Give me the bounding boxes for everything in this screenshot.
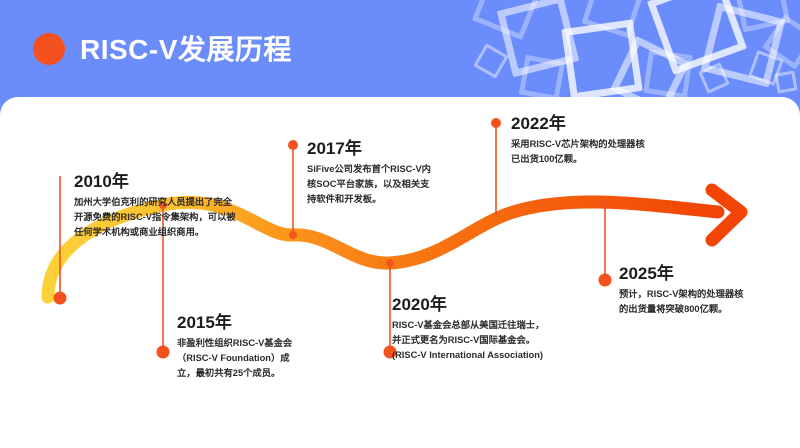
milestone-desc-line: 核SOC平台家族，以及相关支 — [307, 177, 431, 192]
milestone-desc-line: 立，最初共有25个成员。 — [177, 366, 292, 381]
milestone-year-2010: 2010年 — [74, 172, 236, 192]
timeline-node-2017[interactable] — [288, 140, 298, 150]
timeline-node-2015[interactable] — [157, 346, 170, 359]
milestone-desc-2015: 非盈利性组织RISC-V基金会 （RISC-V Foundation）成 立，最… — [177, 336, 292, 381]
milestone-desc-2020: RISC-V基金会总部从美国迁往瑞士， 并正式更名为RISC-V国际基金会。 (… — [392, 318, 544, 363]
milestone-year-2015: 2015年 — [177, 313, 292, 333]
slide-header: RISC-V发展历程 — [0, 0, 800, 97]
milestone-year-2022: 2022年 — [511, 114, 645, 134]
milestone-2025[interactable]: 2025年 预计，RISC-V架构的处理器核 的出货量将突破800亿颗。 — [619, 264, 743, 317]
milestone-desc-line: 已出货100亿颗。 — [511, 152, 645, 167]
milestone-desc-line: 非盈利性组织RISC-V基金会 — [177, 336, 292, 351]
circle-icon — [33, 33, 65, 65]
timeline-wave-node-2017 — [289, 231, 297, 239]
milestone-desc-line: 持软件和开发板。 — [307, 192, 431, 207]
milestone-year-2017: 2017年 — [307, 139, 431, 159]
milestone-desc-line: 任何学术机构或商业组织商用。 — [74, 225, 236, 240]
milestone-desc-2025: 预计，RISC-V架构的处理器核 的出货量将突破800亿颗。 — [619, 287, 743, 317]
milestone-desc-line: 加州大学伯克利的研究人员提出了完全 — [74, 195, 236, 210]
milestone-year-2025: 2025年 — [619, 264, 743, 284]
slide-canvas: RISC-V发展历程 — [0, 0, 800, 448]
page-title: RISC-V发展历程 — [80, 28, 292, 68]
timeline-node-2025[interactable] — [599, 274, 612, 287]
milestone-desc-line: 并正式更名为RISC-V国际基金会。 — [392, 333, 544, 348]
milestone-2022[interactable]: 2022年 采用RISC-V芯片架构的处理器核 已出货100亿颗。 — [511, 114, 645, 167]
milestone-desc-line: 开源免费的RISC-V指令集架构，可以被 — [74, 210, 236, 225]
milestone-desc-2022: 采用RISC-V芯片架构的处理器核 已出货100亿颗。 — [511, 137, 645, 167]
milestone-desc-line: 预计，RISC-V架构的处理器核 — [619, 287, 743, 302]
timeline-node-2022[interactable] — [491, 118, 501, 128]
milestone-2017[interactable]: 2017年 SiFive公司发布首个RISC-V内 核SOC平台家族，以及相关支… — [307, 139, 431, 208]
milestone-year-2020: 2020年 — [392, 295, 544, 315]
timeline-node-2010[interactable] — [54, 292, 67, 305]
milestone-desc-line: SiFive公司发布首个RISC-V内 — [307, 162, 431, 177]
milestone-desc-line: 采用RISC-V芯片架构的处理器核 — [511, 137, 645, 152]
milestone-desc-2017: SiFive公司发布首个RISC-V内 核SOC平台家族，以及相关支 持软件和开… — [307, 162, 431, 207]
milestone-2020[interactable]: 2020年 RISC-V基金会总部从美国迁往瑞士， 并正式更名为RISC-V国际… — [392, 295, 544, 364]
milestone-desc-line: （RISC-V Foundation）成 — [177, 351, 292, 366]
milestone-desc-line: 的出货量将突破800亿颗。 — [619, 302, 743, 317]
milestone-desc-2010: 加州大学伯克利的研究人员提出了完全 开源免费的RISC-V指令集架构，可以被 任… — [74, 195, 236, 240]
timeline-wave-node-2025 — [601, 201, 609, 209]
milestone-desc-line: (RISC-V International Association) — [392, 348, 544, 363]
milestone-desc-line: RISC-V基金会总部从美国迁往瑞士， — [392, 318, 544, 333]
milestone-2015[interactable]: 2015年 非盈利性组织RISC-V基金会 （RISC-V Foundation… — [177, 313, 292, 382]
milestone-2010[interactable]: 2010年 加州大学伯克利的研究人员提出了完全 开源免费的RISC-V指令集架构… — [74, 172, 236, 241]
timeline-wave-node-2020 — [386, 259, 394, 267]
